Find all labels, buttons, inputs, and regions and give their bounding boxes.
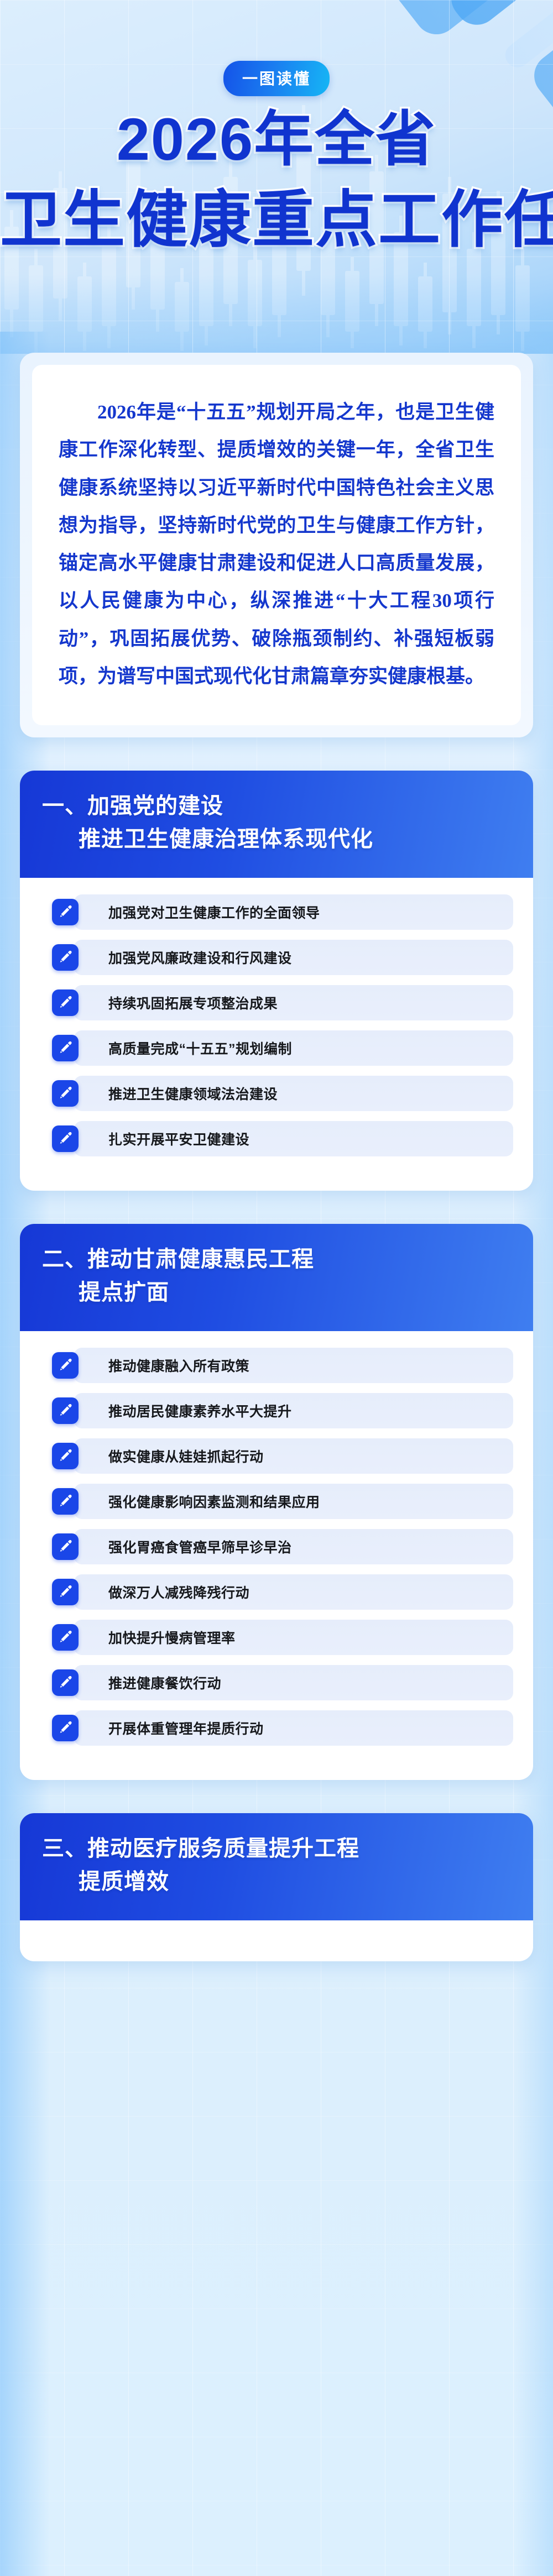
pencil-icon: [52, 1035, 79, 1061]
pencil-icon: [52, 1715, 79, 1741]
read-in-one-picture-badge: 一图读懂: [223, 61, 330, 96]
task-item-label: 推进卫生健康领域法治建设: [108, 1076, 278, 1111]
section-body-1: 加强党对卫生健康工作的全面领导 加强党风廉政建设和行风建设 持续巩固拓展专项整治…: [20, 878, 533, 1191]
task-item-label: 加强党对卫生健康工作的全面领导: [108, 894, 320, 930]
section-body-3: [20, 1920, 533, 1961]
task-item-label: 加快提升慢病管理率: [108, 1620, 236, 1655]
section-title-line-2: 提点扩面: [42, 1276, 511, 1309]
task-item[interactable]: 扎实开展平安卫健建设: [40, 1121, 513, 1156]
intro-card: 2026年是“十五五”规划开局之年，也是卫生健康工作深化转型、提质增效的关键一年…: [20, 353, 533, 737]
section-header-2: 二、推动甘肃健康惠民工程提点扩面: [20, 1224, 533, 1331]
pencil-icon: [52, 1125, 79, 1152]
intro-paragraph: 2026年是“十五五”规划开局之年，也是卫生健康工作深化转型、提质增效的关键一年…: [59, 394, 494, 695]
pencil-icon: [52, 1397, 79, 1424]
page-header: 一图读懂 2026年全省 卫生健康重点工作任务: [0, 0, 553, 332]
pencil-icon: [52, 1579, 79, 1605]
task-item[interactable]: 开展体重管理年提质行动: [40, 1710, 513, 1746]
pencil-icon: [52, 899, 79, 925]
section-header-3: 三、推动医疗服务质量提升工程提质增效: [20, 1813, 533, 1920]
page-title-line-1: 2026年全省: [0, 106, 553, 173]
task-item-label: 持续巩固拓展专项整治成果: [108, 985, 278, 1020]
task-item-label: 做深万人减残降残行动: [108, 1574, 249, 1610]
section-card-3: 三、推动医疗服务质量提升工程提质增效: [20, 1813, 533, 1961]
sections-container: 一、加强党的建设推进卫生健康治理体系现代化 加强党对卫生健康工作的全面领导 加强…: [0, 771, 553, 1961]
task-item-label: 强化健康影响因素监测和结果应用: [108, 1484, 320, 1519]
section-body-2: 推动健康融入所有政策 推动居民健康素养水平大提升 做实健康从娃娃抓起行动 强化健…: [20, 1331, 533, 1780]
task-item[interactable]: 加快提升慢病管理率: [40, 1620, 513, 1655]
section-card-2: 二、推动甘肃健康惠民工程提点扩面 推动健康融入所有政策 推动居民健康素养水平大提…: [20, 1224, 533, 1780]
task-item[interactable]: 推进健康餐饮行动: [40, 1665, 513, 1700]
section-title-line-1: 二、推动甘肃健康惠民工程: [42, 1243, 511, 1276]
page-title: 2026年全省 卫生健康重点工作任务: [0, 106, 553, 254]
task-item[interactable]: 加强党对卫生健康工作的全面领导: [40, 894, 513, 930]
section-card-1: 一、加强党的建设推进卫生健康治理体系现代化 加强党对卫生健康工作的全面领导 加强…: [20, 771, 533, 1191]
section-header-1: 一、加强党的建设推进卫生健康治理体系现代化: [20, 771, 533, 878]
pencil-icon: [52, 944, 79, 971]
task-item[interactable]: 持续巩固拓展专项整治成果: [40, 985, 513, 1020]
task-item[interactable]: 加强党风廉政建设和行风建设: [40, 940, 513, 975]
task-item-label: 推动居民健康素养水平大提升: [108, 1393, 292, 1428]
task-item-label: 高质量完成“十五五”规划编制: [108, 1030, 292, 1066]
intro-card-inner: 2026年是“十五五”规划开局之年，也是卫生健康工作深化转型、提质增效的关键一年…: [32, 365, 521, 725]
task-item[interactable]: 高质量完成“十五五”规划编制: [40, 1030, 513, 1066]
pencil-icon: [52, 1624, 79, 1651]
task-item[interactable]: 推动健康融入所有政策: [40, 1348, 513, 1383]
task-item-label: 推动健康融入所有政策: [108, 1348, 249, 1383]
infographic-page: 一图读懂 2026年全省 卫生健康重点工作任务 2026年是“十五五”规划开局之…: [0, 0, 553, 2576]
task-item[interactable]: 强化健康影响因素监测和结果应用: [40, 1484, 513, 1519]
task-item-label: 开展体重管理年提质行动: [108, 1710, 264, 1746]
pencil-icon: [52, 1080, 79, 1107]
task-item[interactable]: 强化胃癌食管癌早筛早诊早治: [40, 1529, 513, 1564]
page-title-line-2: 卫生健康重点工作任务: [0, 185, 553, 254]
pencil-icon: [52, 1669, 79, 1696]
task-item[interactable]: 做深万人减残降残行动: [40, 1574, 513, 1610]
task-item[interactable]: 推进卫生健康领域法治建设: [40, 1076, 513, 1111]
task-item-label: 强化胃癌食管癌早筛早诊早治: [108, 1529, 292, 1564]
section-title-line-1: 一、加强党的建设: [42, 789, 511, 823]
task-item-label: 扎实开展平安卫健建设: [108, 1121, 249, 1156]
task-item-label: 推进健康餐饮行动: [108, 1665, 221, 1700]
section-title-line-2: 提质增效: [42, 1865, 511, 1898]
pencil-icon: [52, 1352, 79, 1379]
pencil-icon: [52, 1443, 79, 1469]
section-title-line-2: 推进卫生健康治理体系现代化: [42, 823, 511, 856]
pencil-icon: [52, 1488, 79, 1515]
pencil-icon: [52, 989, 79, 1016]
task-item-label: 做实健康从娃娃抓起行动: [108, 1438, 264, 1474]
task-item-label: 加强党风廉政建设和行风建设: [108, 940, 292, 975]
task-item[interactable]: 推动居民健康素养水平大提升: [40, 1393, 513, 1428]
task-item[interactable]: 做实健康从娃娃抓起行动: [40, 1438, 513, 1474]
pencil-icon: [52, 1533, 79, 1560]
section-title-line-1: 三、推动医疗服务质量提升工程: [42, 1832, 511, 1865]
